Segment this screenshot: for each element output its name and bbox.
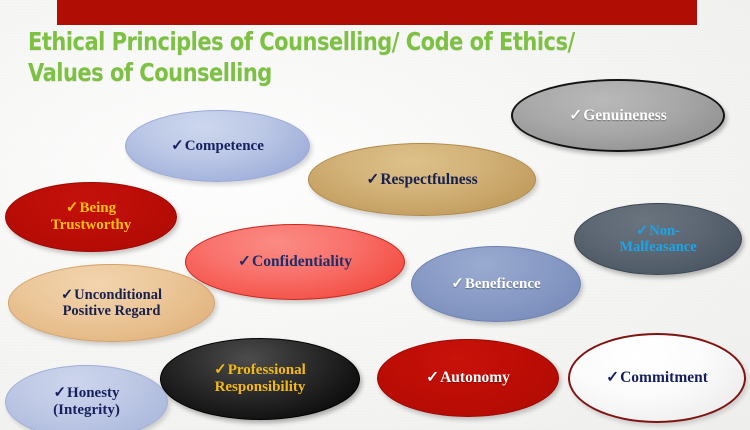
check-icon: ✓ [636,223,649,239]
page-title: Ethical Principles of Counselling/ Code … [28,27,582,88]
principle-ellipse-beneficence[interactable]: ✓Beneficence [411,246,581,322]
check-icon: ✓ [426,369,440,386]
principle-label: ✓Autonomy [426,369,510,386]
principle-ellipse-confidentiality[interactable]: ✓Confidentiality [185,224,405,300]
principle-label: ✓Non- Malfeasance [619,223,696,255]
check-icon: ✓ [66,200,80,216]
principle-label: ✓Confidentiality [238,253,352,270]
principle-ellipse-being-trustworthy[interactable]: ✓Being Trustworthy [5,182,177,252]
check-icon: ✓ [53,385,67,401]
principle-label: ✓Commitment [606,369,708,386]
principle-ellipse-professional-responsibility[interactable]: ✓Professional Responsibility [160,338,360,420]
principle-text: Respectfulness [380,171,477,188]
principle-ellipse-autonomy[interactable]: ✓Autonomy [377,339,559,417]
check-icon: ✓ [569,107,583,124]
check-icon: ✓ [61,287,74,303]
principle-label: ✓Unconditional Positive Regard [61,287,162,319]
principle-text: Confidentiality [252,253,352,270]
principle-ellipse-competence[interactable]: ✓Competence [125,110,310,182]
principle-text: Genuineness [583,107,667,124]
check-icon: ✓ [606,369,620,386]
principle-label: ✓Respectfulness [366,171,477,188]
principle-text: Competence [185,138,264,154]
principle-text: Autonomy [440,369,510,386]
slide-canvas: Ethical Principles of Counselling/ Code … [0,0,750,430]
principle-text: Commitment [620,369,708,386]
principle-label: ✓Being Trustworthy [51,200,132,234]
principle-label: ✓Beneficence [451,276,540,293]
principle-text: Unconditional Positive Regard [63,287,162,319]
check-icon: ✓ [238,253,252,270]
check-icon: ✓ [451,276,465,292]
principle-label: ✓Genuineness [569,107,667,124]
principle-text: Being Trustworthy [51,200,132,233]
principle-text: Professional Responsibility [215,362,306,395]
principle-text: Non- Malfeasance [619,223,696,255]
check-icon: ✓ [214,362,228,378]
principle-ellipse-commitment[interactable]: ✓Commitment [568,333,746,423]
check-icon: ✓ [171,138,185,154]
principle-ellipse-respectfulness[interactable]: ✓Respectfulness [308,143,536,216]
principle-ellipse-non-malfeasance[interactable]: ✓Non- Malfeasance [574,203,742,275]
principle-label: ✓Honesty (Integrity) [53,385,120,419]
principle-ellipse-genuineness[interactable]: ✓Genuineness [511,79,725,152]
principle-ellipse-unconditional-positive-regard[interactable]: ✓Unconditional Positive Regard [8,264,215,342]
title-banner-bar [57,0,697,25]
principle-text: Beneficence [465,276,541,292]
principle-label: ✓Professional Responsibility [214,362,306,396]
principle-ellipse-honesty-integrity[interactable]: ✓Honesty (Integrity) [5,365,168,430]
check-icon: ✓ [366,171,380,188]
principle-label: ✓Competence [171,138,264,155]
